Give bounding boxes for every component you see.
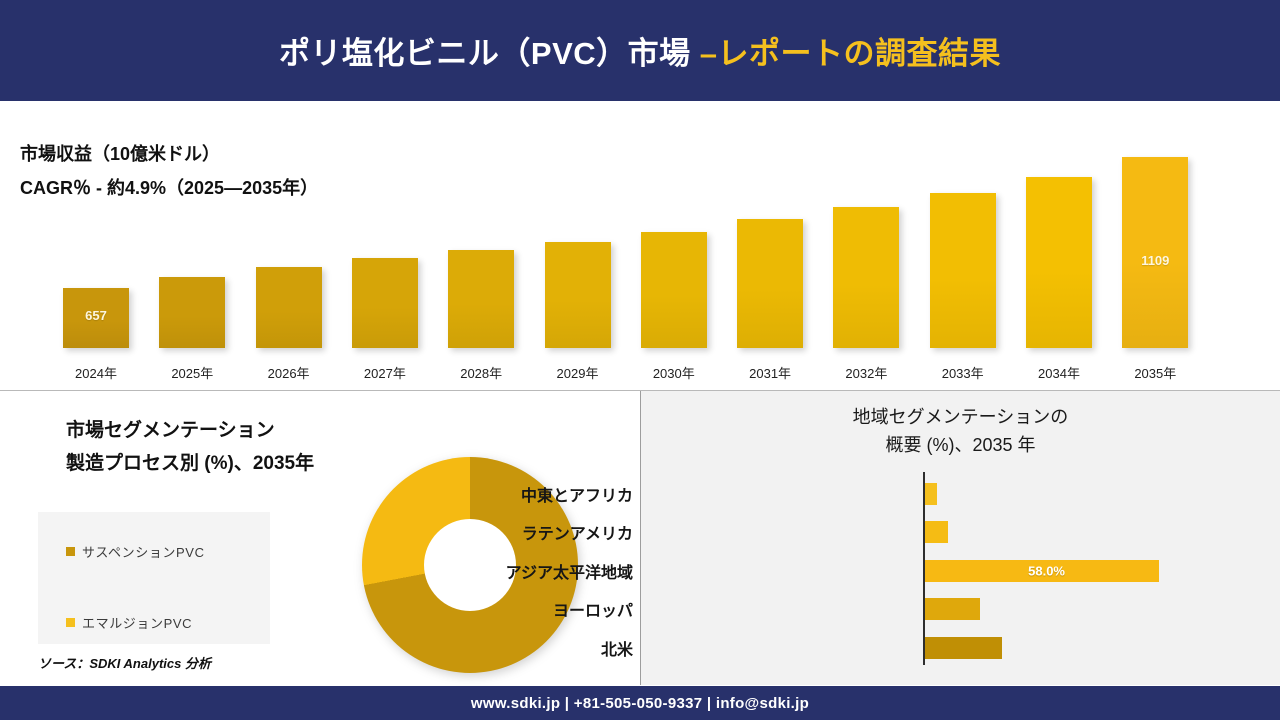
revenue-bar bbox=[256, 267, 322, 348]
revenue-bar-year-label: 2035年 bbox=[1107, 363, 1203, 382]
regional-bar-row: アジア太平洋地域58.0% bbox=[641, 552, 1280, 590]
regional-bar bbox=[925, 483, 937, 505]
segmentation-title-line2: 製造プロセス別 (%)、2035年 bbox=[66, 447, 314, 480]
regional-bar-label: 中東とアフリカ bbox=[413, 482, 633, 506]
donut-legend-label: サスペンションPVC bbox=[82, 542, 205, 561]
revenue-bar-year-label: 2031年 bbox=[722, 363, 818, 382]
revenue-bar-year-label: 2032年 bbox=[818, 363, 914, 382]
revenue-bar-year-label: 2030年 bbox=[626, 363, 722, 382]
revenue-bar-chart: 6572024年2025年2026年2027年2028年2029年2030年20… bbox=[0, 101, 1280, 390]
regional-segmentation-panel: 地域セグメンテーションの 概要 (%)、2035 年 中東とアフリカラテンアメリ… bbox=[641, 391, 1280, 685]
source-note: ソース：SDKI Analytics 分析 bbox=[38, 653, 211, 672]
page-title-accent: –レポートの調査結果 bbox=[700, 36, 1001, 71]
revenue-bar-year-label: 2024年 bbox=[48, 363, 144, 382]
segmentation-title-line1: 市場セグメンテーション bbox=[66, 414, 314, 447]
legend-swatch-square-icon bbox=[66, 547, 75, 556]
revenue-bar-value: 1109 bbox=[1122, 253, 1188, 268]
regional-bar-row: ヨーロッパ bbox=[641, 590, 1280, 628]
revenue-bar bbox=[833, 207, 899, 348]
revenue-bar bbox=[545, 242, 611, 348]
revenue-bar-year-label: 2034年 bbox=[1011, 363, 1107, 382]
regional-bar-label: アジア太平洋地域 bbox=[413, 559, 633, 583]
regional-bar: 58.0% bbox=[925, 560, 1159, 582]
regional-bar-row: ラテンアメリカ bbox=[641, 513, 1280, 551]
donut-legend: サスペンションPVCエマルジョンPVC bbox=[38, 512, 270, 644]
revenue-bar bbox=[641, 232, 707, 348]
revenue-bar bbox=[352, 258, 418, 348]
regional-bar-label: ラテンアメリカ bbox=[413, 520, 633, 544]
regional-bar-label: 北米 bbox=[413, 636, 633, 660]
regional-title-line2: 概要 (%)、2035 年 bbox=[641, 431, 1280, 459]
regional-bar-label: ヨーロッパ bbox=[413, 597, 633, 621]
revenue-bar-value: 657 bbox=[63, 308, 129, 323]
revenue-bar bbox=[159, 277, 225, 348]
regional-bar-row: 中東とアフリカ bbox=[641, 475, 1280, 513]
page-footer: www.sdki.jp | +81-505-050-9337 | info@sd… bbox=[0, 686, 1280, 720]
regional-bar bbox=[925, 637, 1002, 659]
regional-bar bbox=[925, 521, 948, 543]
legend-swatch-square-icon bbox=[66, 618, 75, 627]
page-title-primary: ポリ塩化ビニル（PVC）市場 bbox=[279, 36, 700, 71]
regional-title-line1: 地域セグメンテーションの bbox=[641, 403, 1280, 431]
revenue-bar bbox=[737, 219, 803, 348]
revenue-bar-year-label: 2033年 bbox=[915, 363, 1011, 382]
revenue-bar-year-label: 2029年 bbox=[530, 363, 626, 382]
page-header: ポリ塩化ビニル（PVC）市場 –レポートの調査結果 bbox=[0, 0, 1280, 101]
donut-legend-item: エマルジョンPVC bbox=[66, 613, 192, 632]
regional-bar-row: 北米 bbox=[641, 629, 1280, 667]
revenue-bar-year-label: 2028年 bbox=[433, 363, 529, 382]
regional-bar bbox=[925, 598, 980, 620]
revenue-bar-year-label: 2025年 bbox=[144, 363, 240, 382]
revenue-bar bbox=[1026, 177, 1092, 348]
donut-legend-item: サスペンションPVC bbox=[66, 542, 205, 561]
revenue-bar bbox=[448, 250, 514, 348]
regional-bar-value: 58.0% bbox=[1028, 563, 1065, 578]
revenue-bar bbox=[930, 193, 996, 348]
segmentation-title: 市場セグメンテーション 製造プロセス別 (%)、2035年 bbox=[66, 414, 314, 480]
revenue-bar-year-label: 2027年 bbox=[337, 363, 433, 382]
donut-legend-label: エマルジョンPVC bbox=[82, 613, 192, 632]
page-title: ポリ塩化ビニル（PVC）市場 –レポートの調査結果 bbox=[279, 28, 1001, 73]
footer-contact: www.sdki.jp | +81-505-050-9337 | info@sd… bbox=[471, 695, 809, 712]
infographic-page: ポリ塩化ビニル（PVC）市場 –レポートの調査結果 市場収益（10億米ドル） C… bbox=[0, 0, 1280, 720]
revenue-bar-year-label: 2026年 bbox=[241, 363, 337, 382]
regional-title: 地域セグメンテーションの 概要 (%)、2035 年 bbox=[641, 403, 1280, 459]
revenue-chart-section: 市場収益（10億米ドル） CAGR％ - 約4.9%（2025―2035年） 6… bbox=[0, 101, 1280, 390]
